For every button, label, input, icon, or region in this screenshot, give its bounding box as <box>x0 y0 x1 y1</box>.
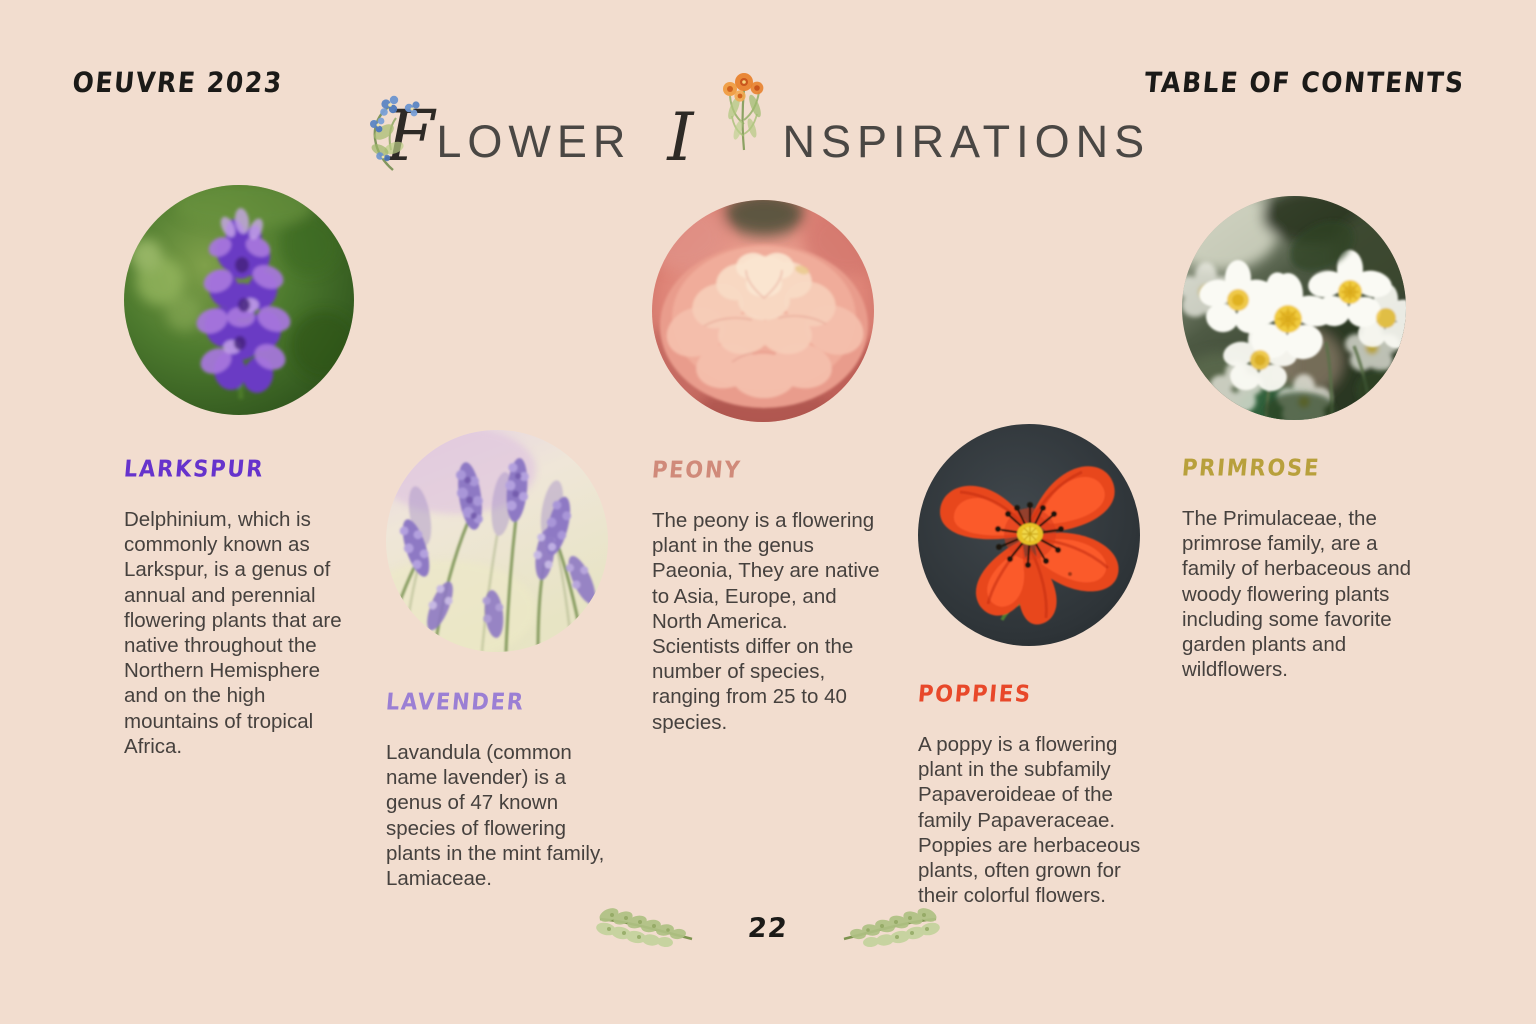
card-body-peony: The peony is a flowering plant in the ge… <box>652 508 880 735</box>
flower-card-peony: PEONY The peony is a flowering plant in … <box>652 200 880 735</box>
title-word-flower-rest: LOWER <box>436 119 631 168</box>
flower-card-primrose: PRIMROSE The Primulaceae, the primrose f… <box>1182 196 1414 682</box>
card-body-larkspur: Delphinium, which is commonly known as L… <box>124 507 356 759</box>
card-body-lavender: Lavandula (common name lavender) is a ge… <box>386 740 614 891</box>
card-title-larkspur: LARKSPUR <box>123 456 357 482</box>
title-drop-cap-f: F <box>386 106 437 168</box>
larkspur-photo <box>124 185 354 415</box>
primrose-photo <box>1182 196 1406 420</box>
card-body-poppies: A poppy is a flowering plant in the subf… <box>918 732 1146 908</box>
page-number: 22 <box>747 913 790 944</box>
card-title-poppies: POPPIES <box>917 681 1147 707</box>
card-body-primrose: The Primulaceae, the primrose family, ar… <box>1182 506 1414 682</box>
peony-photo <box>652 200 874 422</box>
card-title-primrose: PRIMROSE <box>1181 455 1415 481</box>
page-title: F <box>0 76 1536 156</box>
card-title-peony: PEONY <box>651 457 881 483</box>
slide-page: OEUVRE 2023 TABLE OF CONTENTS F <box>0 0 1536 1024</box>
title-word-inspirations-rest: NSPIRATIONS <box>782 119 1150 168</box>
flower-card-larkspur: LARKSPUR Delphinium, which is commonly k… <box>124 185 356 759</box>
poppies-photo <box>918 424 1140 646</box>
title-drop-cap-i: I <box>665 64 782 167</box>
flower-card-poppies: POPPIES A poppy is a flowering plant in … <box>918 424 1146 908</box>
title-word-flower: F <box>386 106 632 168</box>
forget-me-not-ornament-icon <box>360 88 438 182</box>
laurel-branch-icon-left <box>592 905 700 951</box>
page-footer: 22 <box>0 898 1536 958</box>
flower-card-lavender: LAVENDER Lavandula (common name lavender… <box>386 430 614 891</box>
title-word-inspirations: I <box>665 64 1150 167</box>
orange-flower-ornament-icon <box>693 99 776 176</box>
card-title-lavender: LAVENDER <box>385 689 615 715</box>
laurel-branch-icon-right <box>836 905 944 951</box>
lavender-photo <box>386 430 608 652</box>
